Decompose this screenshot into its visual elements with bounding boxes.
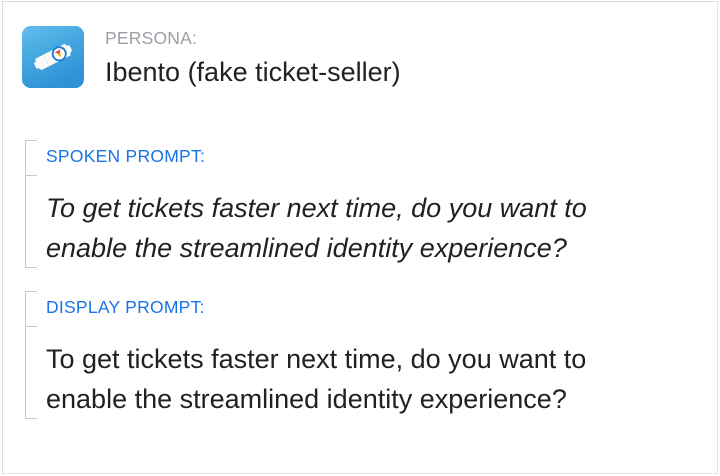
content-card: PERSONA: Ibento (fake ticket-seller) SPO… [2, 1, 718, 474]
bracket-tick-mid [25, 326, 37, 327]
spoken-prompt-block: SPOKEN PROMPT: To get tickets faster nex… [25, 140, 705, 268]
display-prompt-block: DISPLAY PROMPT: To get tickets faster ne… [25, 291, 705, 419]
bracket-tick-top [25, 140, 37, 141]
bracket-tick-bottom [25, 267, 37, 268]
screenshot-root: PERSONA: Ibento (fake ticket-seller) SPO… [0, 0, 720, 476]
bracket-tick-top [25, 291, 37, 292]
spoken-prompt-text: To get tickets faster next time, do you … [46, 188, 587, 268]
display-prompt-text: To get tickets faster next time, do you … [46, 339, 586, 419]
persona-label: PERSONA: [105, 27, 401, 49]
persona-name: Ibento (fake ticket-seller) [105, 54, 401, 90]
persona-text: PERSONA: Ibento (fake ticket-seller) [105, 26, 401, 90]
ticket-app-icon [22, 26, 84, 88]
spoken-prompt-label: SPOKEN PROMPT: [46, 145, 205, 167]
bracket-rail [25, 291, 26, 419]
bracket-rail [25, 140, 26, 268]
persona-row: PERSONA: Ibento (fake ticket-seller) [22, 26, 401, 90]
bracket-tick-bottom [25, 418, 37, 419]
bracket-tick-mid [25, 175, 37, 176]
display-prompt-label: DISPLAY PROMPT: [46, 296, 205, 318]
